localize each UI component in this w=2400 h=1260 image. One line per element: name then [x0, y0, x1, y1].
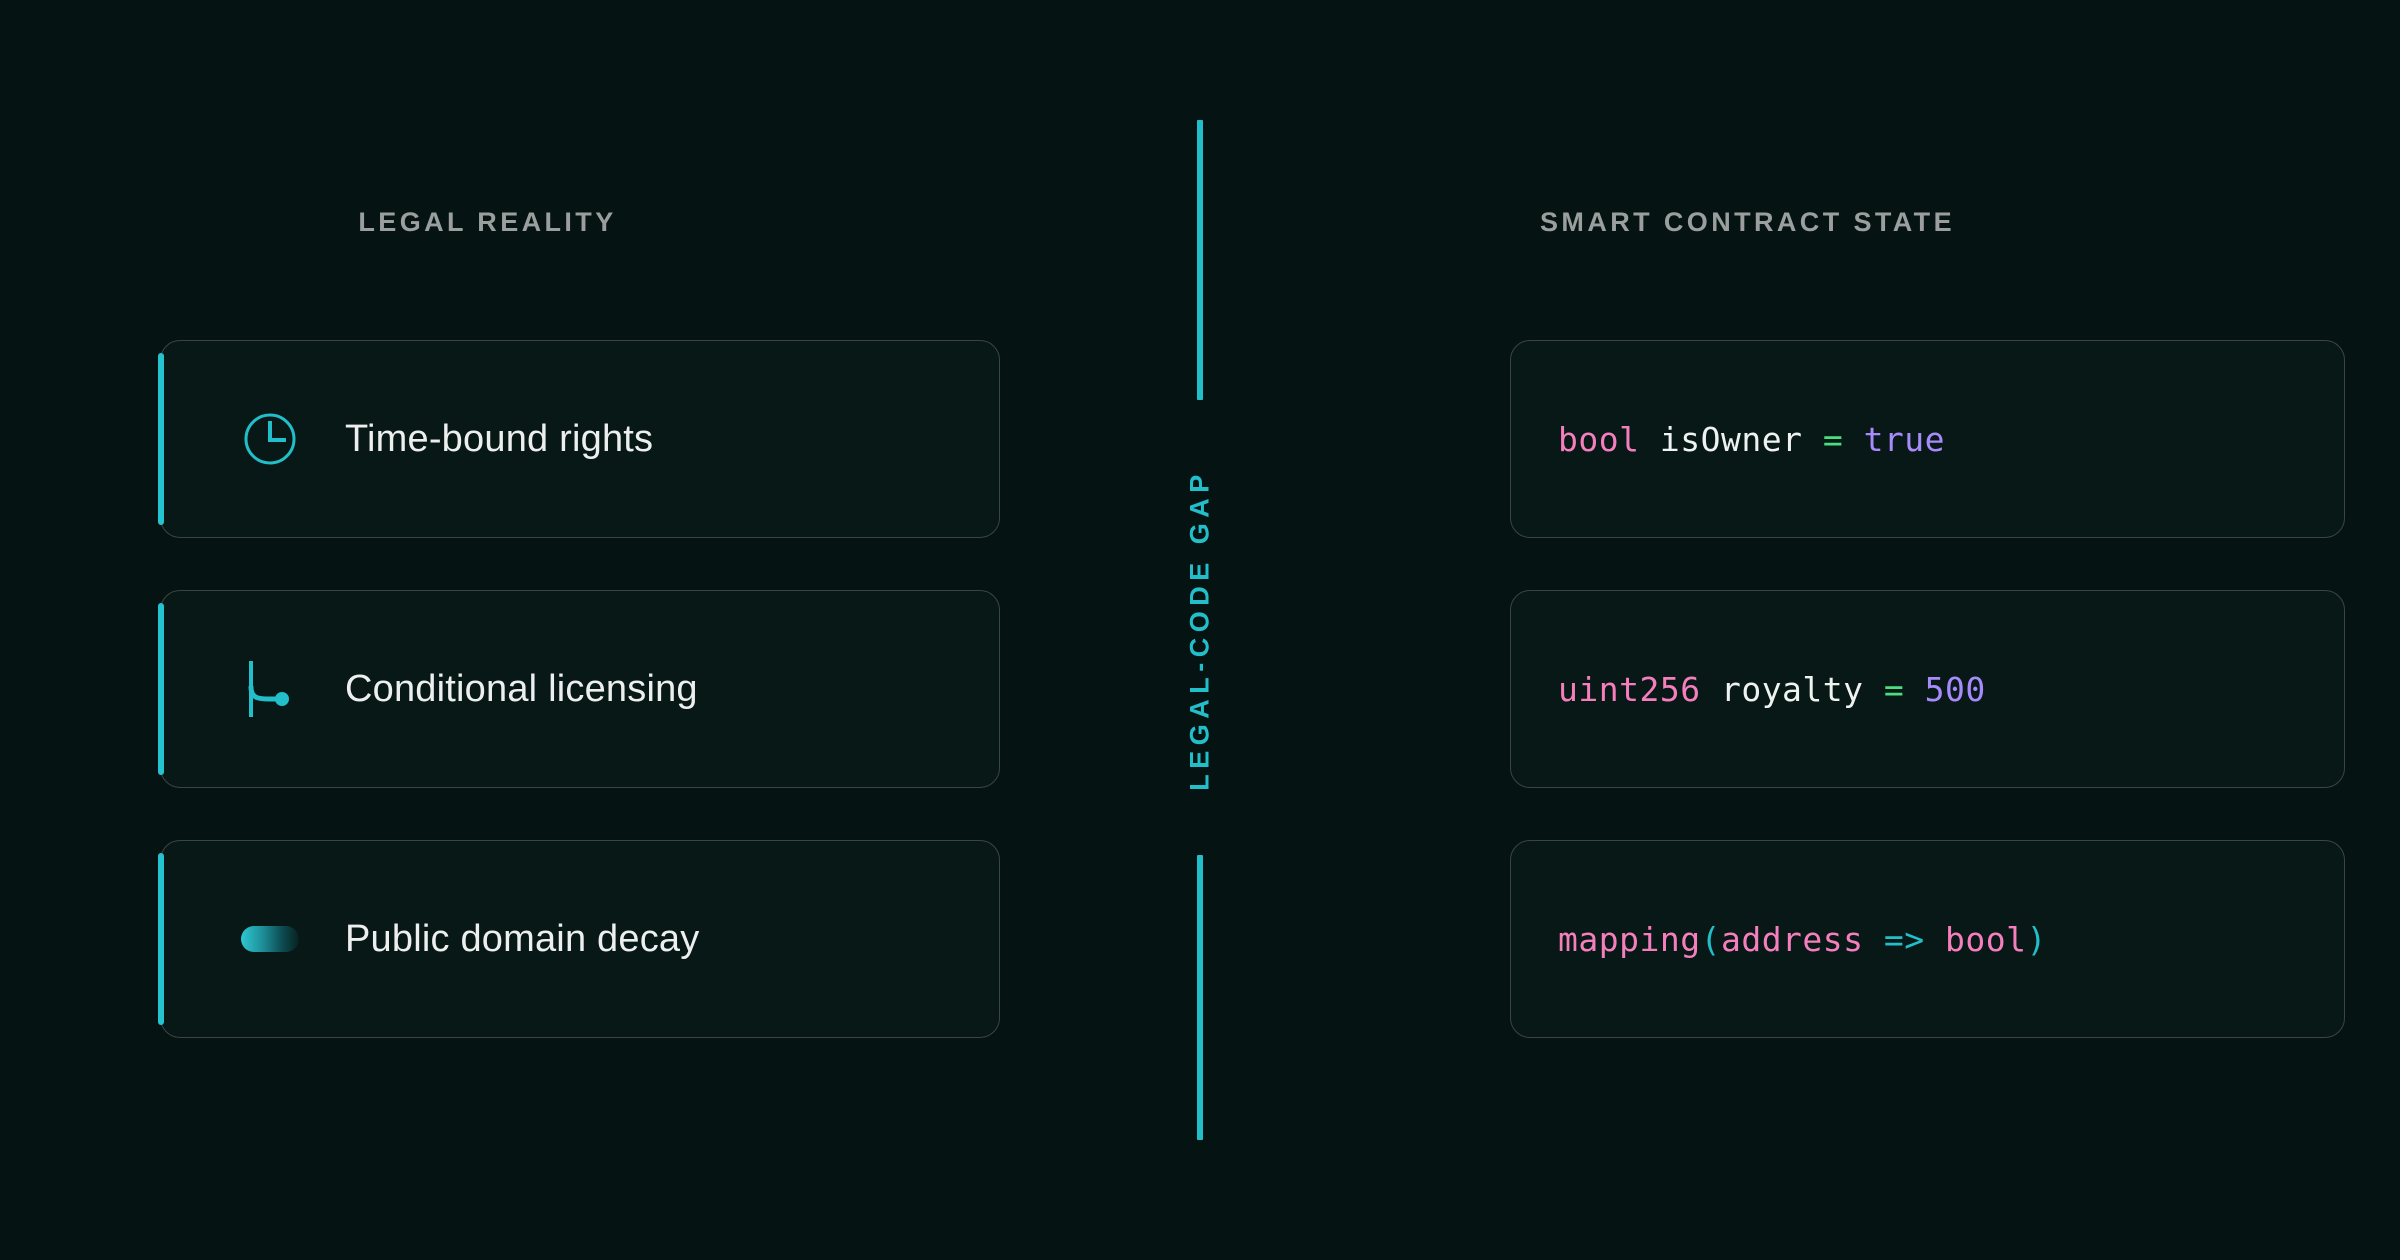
code-line: mapping(address => bool)	[1558, 920, 2047, 959]
contract-card-mapping[interactable]: mapping(address => bool)	[1510, 840, 2345, 1038]
code-token	[1925, 920, 1945, 959]
legal-card-conditional-licensing[interactable]: Conditional licensing	[160, 590, 1000, 788]
code-token: 500	[1925, 670, 1986, 709]
code-token: )	[2027, 920, 2047, 959]
legal-reality-card-list: Time-bound rights Conditional licensing	[160, 340, 1000, 1090]
code-token: royalty	[1721, 670, 1864, 709]
legal-card-public-domain-decay[interactable]: Public domain decay	[160, 840, 1000, 1038]
card-accent-bar	[158, 853, 164, 1025]
code-line: bool isOwner = true	[1558, 420, 1945, 459]
code-token	[1701, 670, 1721, 709]
code-token: =>	[1884, 920, 1925, 959]
card-accent-bar	[158, 353, 164, 525]
divider-line-bottom	[1197, 855, 1203, 1140]
code-token	[1802, 420, 1822, 459]
contract-card-royalty[interactable]: uint256 royalty = 500	[1510, 590, 2345, 788]
code-token: =	[1823, 420, 1843, 459]
contract-card-list: bool isOwner = true uint256 royalty = 50…	[1510, 340, 2345, 1090]
code-token: bool	[1558, 420, 1639, 459]
code-token: mapping	[1558, 920, 1701, 959]
decay-pill-icon	[239, 908, 301, 970]
legal-card-time-bound-rights[interactable]: Time-bound rights	[160, 340, 1000, 538]
contract-card-is-owner[interactable]: bool isOwner = true	[1510, 340, 2345, 538]
code-token: true	[1864, 420, 1945, 459]
smart-contract-state-column: SMART CONTRACT STATE bool isOwner = true…	[1265, 0, 2400, 1260]
legal-card-label: Time-bound rights	[345, 418, 653, 461]
code-token: bool	[1945, 920, 2026, 959]
comparison-diagram: LEGAL REALITY Time-bound rights	[0, 0, 2400, 1260]
code-token	[1904, 670, 1924, 709]
git-branch-icon	[239, 658, 301, 720]
legal-code-gap-divider: LEGAL-CODE GAP	[1135, 0, 1265, 1260]
legal-reality-column: LEGAL REALITY Time-bound rights	[0, 0, 1135, 1260]
legal-card-label: Conditional licensing	[345, 668, 698, 711]
code-line: uint256 royalty = 500	[1558, 670, 1986, 709]
code-token	[1843, 420, 1863, 459]
code-token: isOwner	[1660, 420, 1803, 459]
code-token	[1864, 670, 1884, 709]
code-token: uint256	[1558, 670, 1701, 709]
divider-line-top	[1197, 120, 1203, 400]
divider-label: LEGAL-CODE GAP	[1185, 469, 1216, 791]
smart-contract-state-heading: SMART CONTRACT STATE	[1265, 207, 2400, 238]
code-token: =	[1884, 670, 1904, 709]
legal-reality-heading: LEGAL REALITY	[0, 207, 1135, 238]
clock-icon	[239, 408, 301, 470]
code-token: (	[1701, 920, 1721, 959]
code-token: address	[1721, 920, 1864, 959]
card-accent-bar	[158, 603, 164, 775]
code-token	[1864, 920, 1884, 959]
code-token	[1639, 420, 1659, 459]
legal-card-label: Public domain decay	[345, 918, 699, 961]
